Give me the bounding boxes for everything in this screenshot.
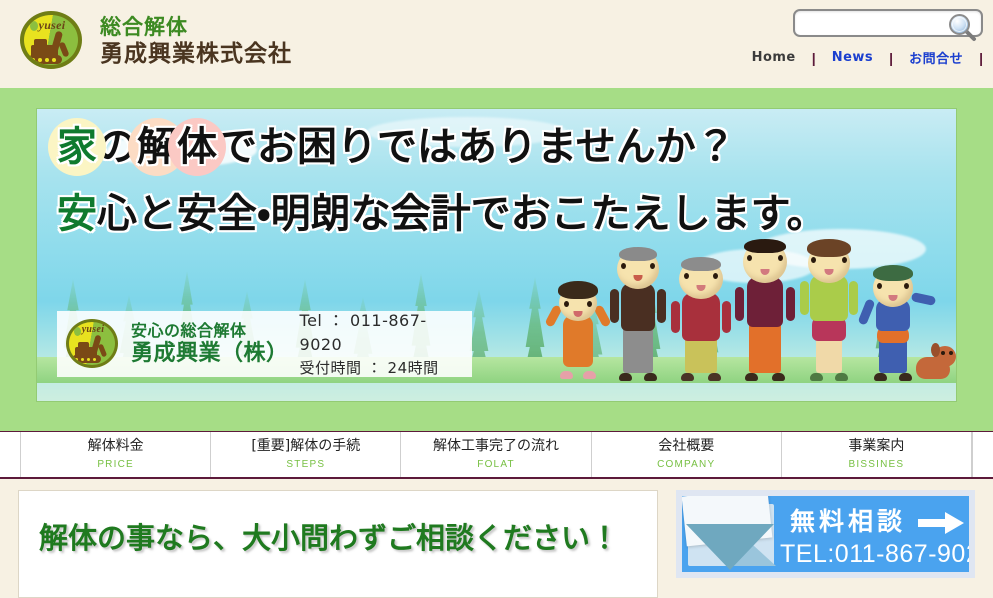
hero-contact-tel: Tel ： 011-867-9020 (300, 309, 464, 357)
clay-figure-dog (914, 335, 957, 383)
hero-contact-company: 勇成興業（株） (131, 341, 284, 366)
nav-separator: | (977, 50, 985, 66)
hero-contact-tagline: 安心の総合解体 (131, 321, 284, 341)
mainnav-item-flow[interactable]: 解体工事完了の流れ FOLAT (401, 432, 591, 477)
mainnav-label-ja: 事業案内 (848, 439, 904, 454)
hero-char-an: 安 (57, 191, 97, 237)
mainnav-label-en: STEPS (286, 459, 325, 470)
search-box[interactable] (793, 9, 983, 39)
mainnav-label-en: PRICE (97, 459, 134, 470)
hero-section: 家の解体でお困りではありませんか？ 安心と安全・明朗な会計でおこたえします。 (0, 88, 993, 431)
intro-card: 解体の事なら、大小問わずご相談ください！ (18, 490, 658, 598)
clay-family-illustration (542, 223, 942, 383)
mainnav-label-en: COMPANY (657, 459, 715, 470)
brand-tagline: 総合解体 (100, 17, 292, 38)
mainnav-edge-left (0, 432, 21, 477)
mainnav-label-ja: 解体工事完了の流れ (433, 439, 559, 454)
nav-separator: | (810, 50, 818, 66)
mainnav-label-ja: 会社概要 (658, 439, 714, 454)
logo-wordmark: yusei (18, 18, 86, 33)
free-consultation-banner[interactable]: 無料相談 TEL:011-867-9020 (676, 490, 975, 578)
intro-card-title: 解体の事なら、大小問わずご相談ください！ (39, 515, 619, 557)
mainnav-item-steps[interactable]: [重要]解体の手続 STEPS (211, 432, 401, 477)
site-header: yusei 総合解体 勇成興業株式会社 (0, 0, 993, 88)
nav-separator: | (887, 50, 895, 66)
brand-block[interactable]: yusei 総合解体 勇成興業株式会社 (18, 9, 292, 73)
search-icon[interactable] (947, 12, 977, 42)
mainnav-edge-right (972, 432, 993, 477)
mainnav-label-en: FOLAT (477, 459, 514, 470)
hero-line1-rest: でお困りではありませんか？ (217, 124, 736, 170)
mainnav-item-price[interactable]: 解体料金 PRICE (21, 432, 211, 477)
hero-logo-wordmark: yusei (65, 324, 121, 335)
clay-figure-grandma (670, 257, 732, 383)
brand-company-name: 勇成興業株式会社 (100, 43, 292, 66)
mainnav-label-ja: 解体料金 (88, 439, 144, 454)
content-area: 解体の事なら、大小問わずご相談ください！ 無料相談 TEL:011-867-90… (0, 479, 993, 598)
clay-figure-mother (798, 241, 860, 383)
page-root: yusei 総合解体 勇成興業株式会社 (0, 0, 993, 598)
nav-link-home[interactable]: Home (738, 50, 810, 65)
mainnav-item-company[interactable]: 会社概要 COMPANY (592, 432, 782, 477)
hero-char-tai: 体 (177, 127, 217, 167)
arrow-right-icon (918, 512, 964, 534)
promo-title: 無料相談 (790, 502, 906, 538)
nav-link-news[interactable]: News (818, 50, 887, 65)
main-navigation: 解体料金 PRICE [重要]解体の手続 STEPS 解体工事完了の流れ FOL… (0, 431, 993, 479)
hero-headline-line1: 家の解体でお困りではありませんか？ (57, 127, 736, 167)
clay-figure-girl (550, 279, 606, 383)
nav-link-contact[interactable]: お問合せ (895, 48, 977, 67)
hero-line2-rest: 心と安全・明朗な会計でおこたえします。 (97, 191, 827, 237)
mainnav-label-ja: [重要]解体の手続 (251, 439, 360, 454)
hero-contact-box[interactable]: yusei 安心の総合解体 勇成興業（株） Tel ： 011-867-9020… (57, 311, 472, 377)
hero-char-ie: 家 (57, 127, 97, 167)
mainnav-label-en: BISSINES (849, 459, 905, 470)
company-logo-icon: yusei (18, 9, 86, 73)
envelope-icon (682, 496, 786, 572)
hero-headline-line2: 安心と安全・明朗な会計でおこたえします。 (57, 194, 827, 234)
mainnav-item-business[interactable]: 事業案内 BISSINES (782, 432, 972, 477)
promo-telephone: TEL:011-867-9020 (780, 540, 969, 569)
hero-contact-hours: 受付時間 ： 24時間 (300, 357, 464, 380)
clay-figure-grandpa (608, 243, 668, 383)
clay-figure-father (734, 237, 796, 383)
top-navigation: Home | News | お問合せ | (738, 48, 985, 67)
hero-banner[interactable]: 家の解体でお困りではありませんか？ 安心と安全・明朗な会計でおこたえします。 (36, 108, 957, 402)
hero-company-logo-icon: yusei (65, 317, 121, 371)
